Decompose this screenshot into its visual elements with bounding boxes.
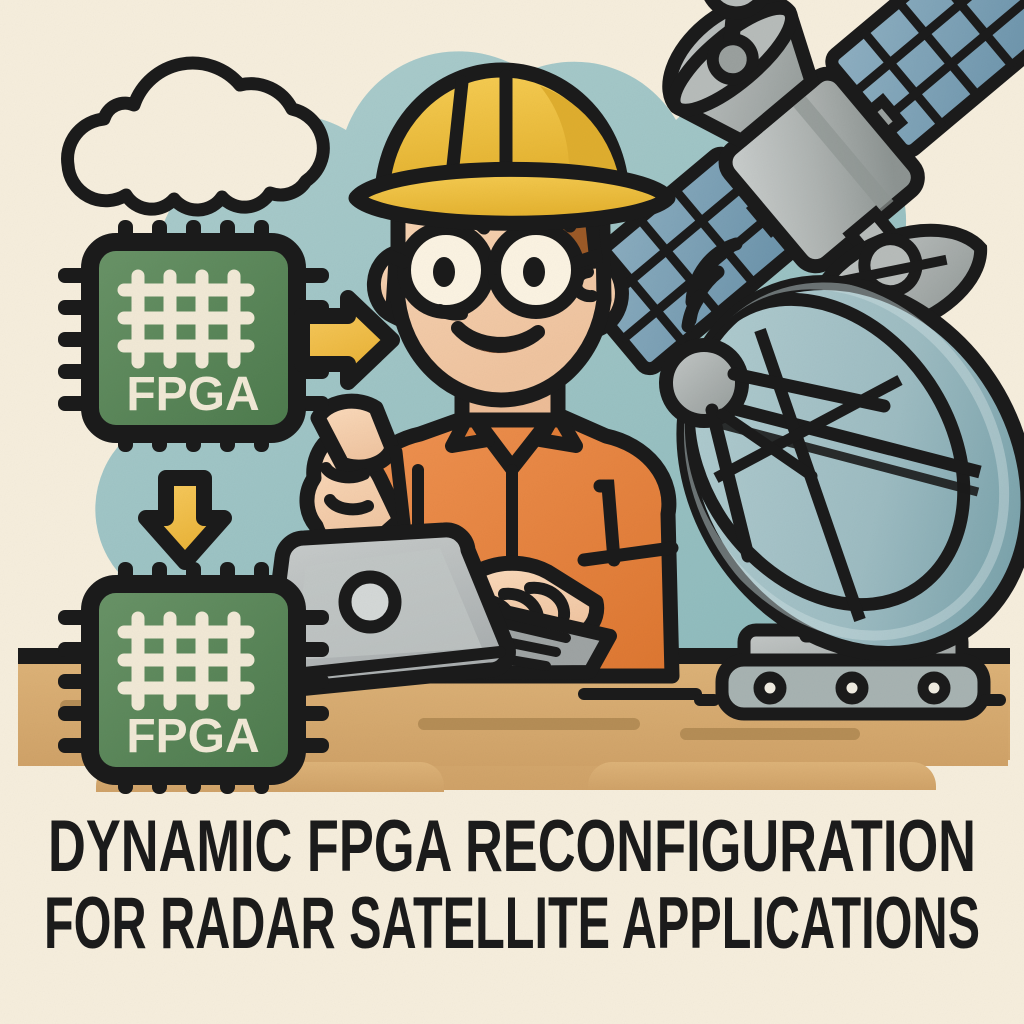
chip-grid-icon	[124, 276, 248, 362]
laptop-logo-icon	[345, 577, 395, 627]
desk-grain-3	[680, 728, 860, 740]
radar-feed-horn	[666, 345, 742, 421]
chip-grid-icon	[124, 618, 248, 704]
chip-label: FPGA	[126, 710, 259, 763]
fpga-chip-bottom[interactable]: FPGA	[58, 562, 329, 794]
illustration-canvas: FPGA	[0, 0, 1024, 1024]
title-block: DYNAMIC FPGA RECONFIGURATION FOR RADAR S…	[44, 806, 980, 964]
chip-label: FPGA	[126, 368, 259, 421]
fpga-chip-top[interactable]: FPGA	[58, 220, 329, 452]
left-pupil	[433, 257, 455, 287]
desk-grain-2	[418, 718, 640, 730]
illustration-svg: FPGA	[0, 0, 1024, 1024]
right-pupil	[523, 257, 545, 287]
title-line-2: FOR RADAR SATELLITE APPLICATIONS	[44, 883, 980, 964]
title-line-1: DYNAMIC FPGA RECONFIGURATION	[48, 806, 976, 887]
desk-dash-1	[578, 688, 702, 700]
